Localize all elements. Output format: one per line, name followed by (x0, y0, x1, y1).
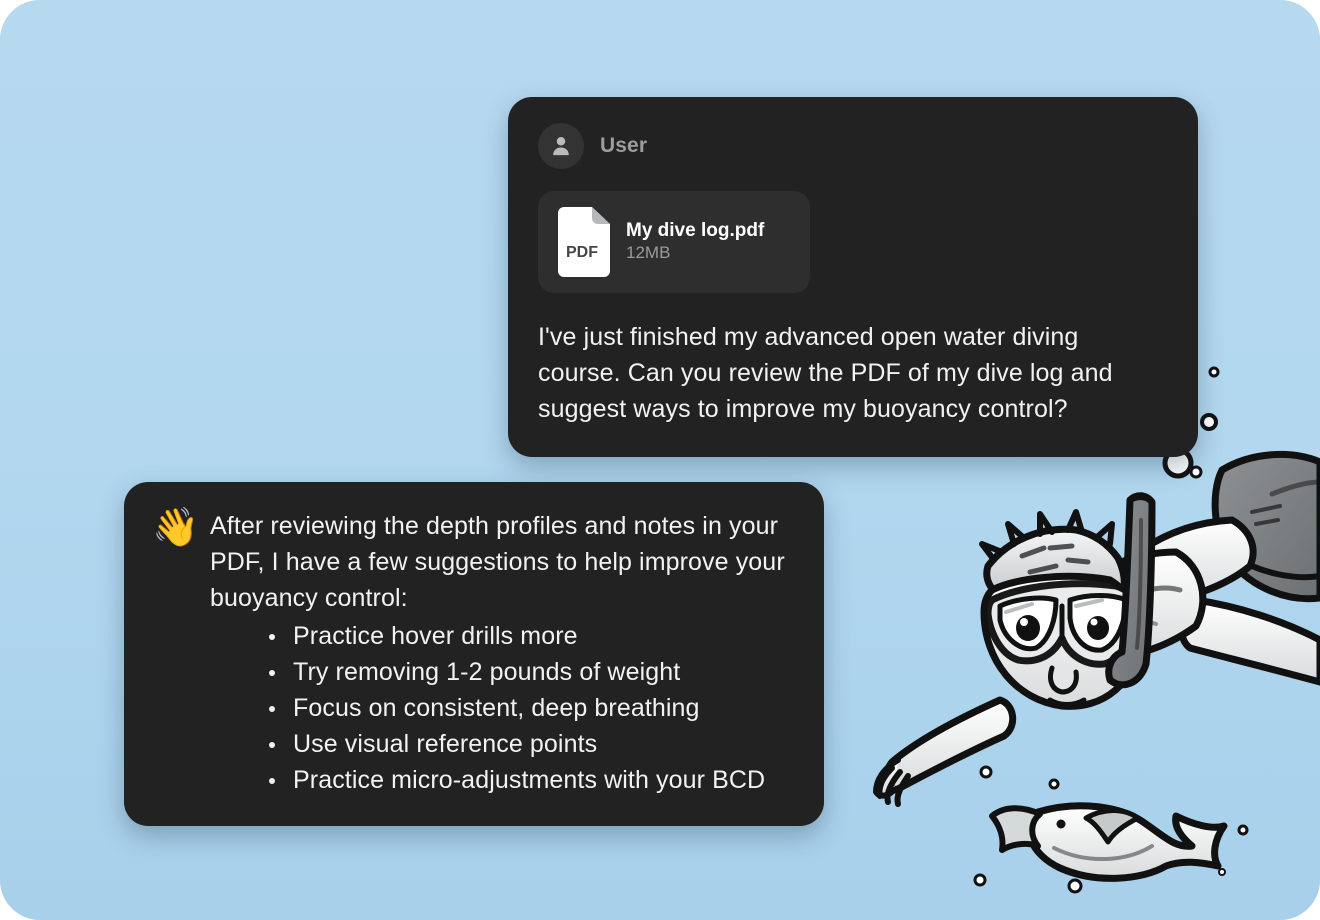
assistant-intro: 👋 After reviewing the depth profiles and… (152, 508, 796, 616)
chat-conversation: User PDF My dive log.pdf 12MB I've just … (0, 0, 1320, 920)
person-avatar-icon (538, 123, 584, 169)
assistant-message-bubble: 👋 After reviewing the depth profiles and… (124, 482, 824, 826)
list-item: Focus on consistent, deep breathing (152, 690, 796, 726)
user-message-header: User (538, 123, 1168, 169)
list-item: Use visual reference points (152, 726, 796, 762)
waving-hand-icon: 👋 (152, 508, 210, 546)
pdf-file-icon: PDF (554, 207, 610, 277)
user-name-label: User (600, 134, 647, 158)
list-item: Try removing 1-2 pounds of weight (152, 654, 796, 690)
suggestion-list: Practice hover drills more Try removing … (152, 618, 796, 798)
user-message-text: I've just finished my advanced open wate… (538, 319, 1168, 427)
assistant-message-paragraph: After reviewing the depth profiles and n… (210, 508, 796, 616)
attachment-filename: My dive log.pdf (626, 220, 764, 241)
user-message-bubble: User PDF My dive log.pdf 12MB I've just … (508, 97, 1198, 457)
app-screen: User PDF My dive log.pdf 12MB I've just … (0, 0, 1320, 920)
list-item: Practice micro-adjustments with your BCD (152, 762, 796, 798)
attachment-meta: My dive log.pdf 12MB (626, 220, 794, 263)
attachment-filesize: 12MB (626, 243, 670, 262)
svg-text:PDF: PDF (566, 244, 598, 261)
attachment-card[interactable]: PDF My dive log.pdf 12MB (538, 191, 810, 293)
list-item: Practice hover drills more (152, 618, 796, 654)
